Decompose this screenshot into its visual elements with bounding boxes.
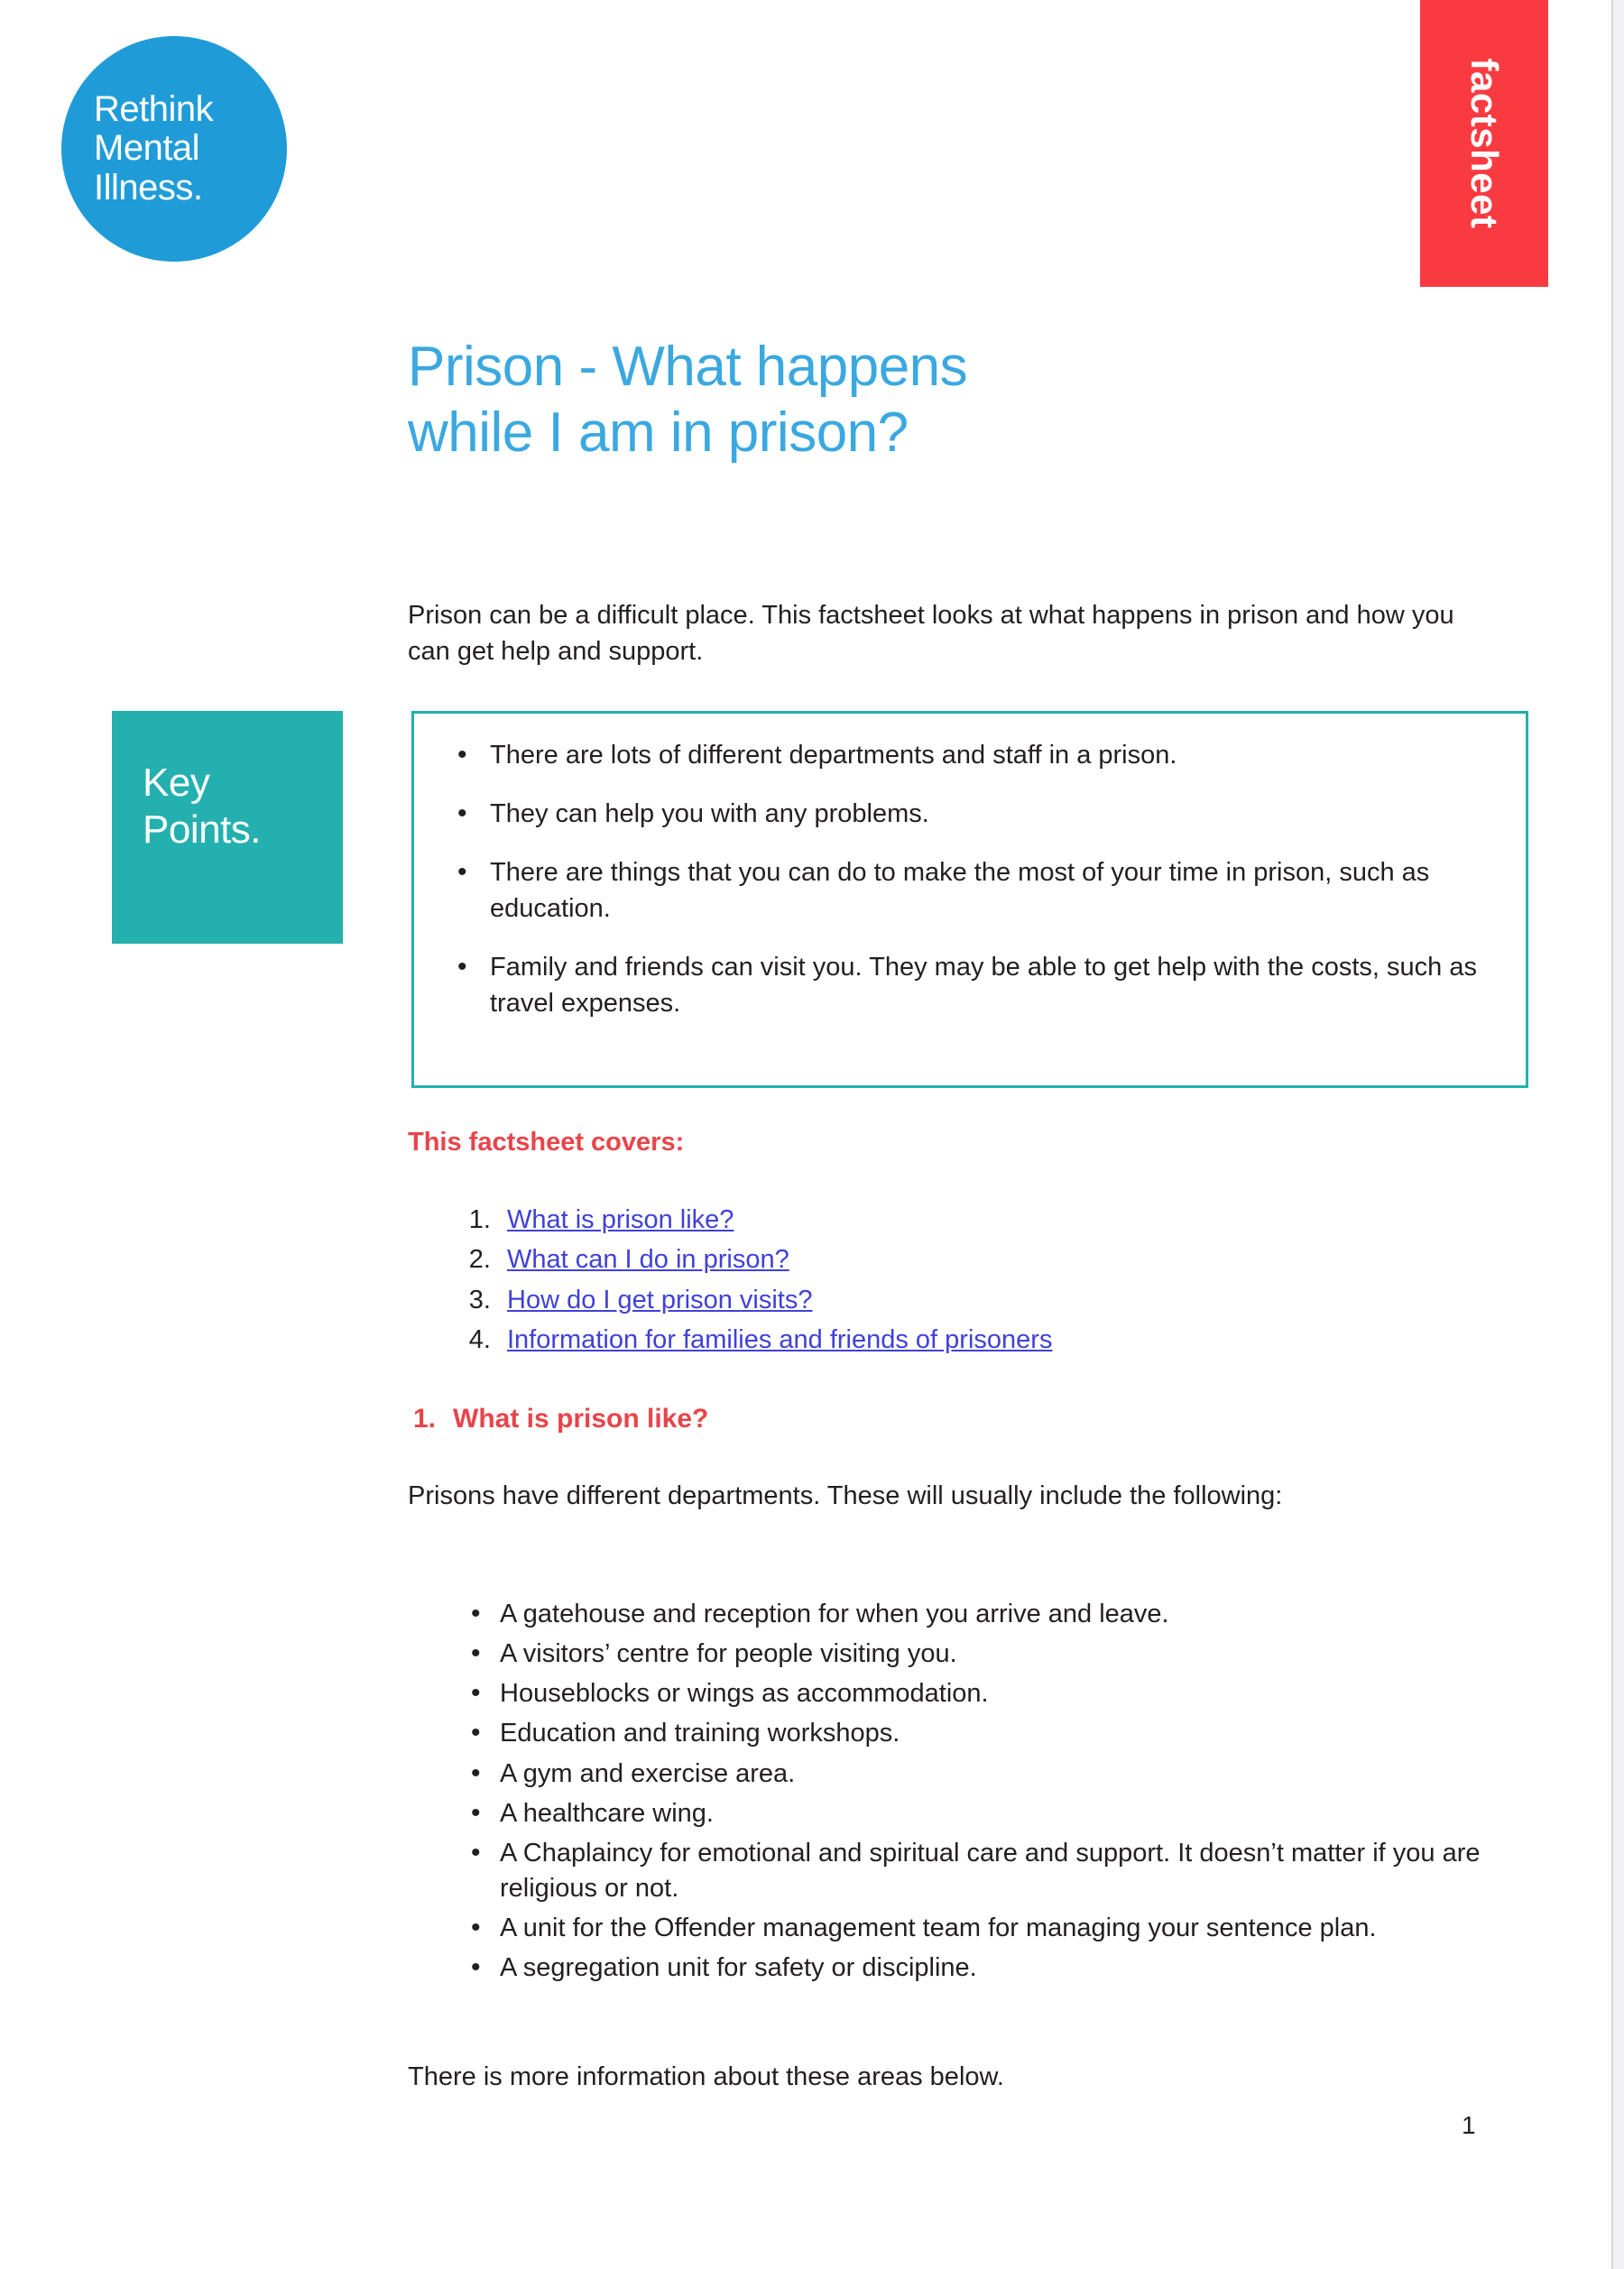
key-points-list: There are lots of different departments … (447, 737, 1490, 1021)
viewer-right-edge (1611, 0, 1624, 2269)
factsheet-covers-list: What is prison like? What can I do in pr… (442, 1200, 1490, 1360)
list-item: What can I do in prison? (498, 1240, 1490, 1279)
section-1-number: 1. (413, 1404, 453, 1434)
intro-paragraph: Prison can be a difficult place. This fa… (408, 597, 1454, 669)
list-item: Education and training workshops. (494, 1716, 1577, 1751)
list-item: A visitors’ centre for people visiting y… (494, 1637, 1577, 1672)
list-item: They can help you with any problems. (483, 796, 1490, 832)
section-1-paragraph: Prisons have different departments. Thes… (408, 1478, 1400, 1514)
list-item: A gym and exercise area. (494, 1757, 1577, 1792)
page-title: Prison - What happens while I am in pris… (408, 334, 1310, 466)
key-points-badge-line-1: Key (143, 760, 343, 807)
page-title-line-2: while I am in prison? (408, 400, 1310, 466)
list-item: A Chaplaincy for emotional and spiritual… (494, 1836, 1577, 1906)
key-points-badge-line-2: Points. (143, 807, 343, 853)
toc-link-3[interactable]: How do I get prison visits? (507, 1286, 812, 1314)
logo-line-2: Mental (94, 129, 199, 168)
factsheet-tab: factsheet (1420, 0, 1548, 287)
section-1-closing-paragraph: There is more information about these ar… (408, 2059, 1400, 2095)
list-item: A healthcare wing. (494, 1796, 1577, 1831)
list-item: There are things that you can do to make… (483, 854, 1490, 927)
factsheet-tab-label: factsheet (1463, 59, 1506, 229)
toc-link-4[interactable]: Information for families and friends of … (507, 1325, 1052, 1354)
list-item: A segregation unit for safety or discipl… (494, 1951, 1577, 1986)
logo-line-1: Rethink (94, 90, 213, 129)
factsheet-page: Rethink Mental Illness. factsheet Prison… (0, 0, 1624, 2269)
section-1-title: What is prison like? (453, 1404, 708, 1434)
toc-link-1[interactable]: What is prison like? (507, 1205, 734, 1234)
list-item: There are lots of different departments … (483, 737, 1490, 773)
logo-line-3: Illness. (94, 169, 203, 208)
list-item: What is prison like? (498, 1200, 1490, 1240)
key-points-box: There are lots of different departments … (411, 711, 1528, 1088)
list-item: Information for families and friends of … (498, 1320, 1490, 1360)
rethink-mental-illness-logo: Rethink Mental Illness. (61, 36, 287, 262)
list-item: A gatehouse and reception for when you a… (494, 1597, 1577, 1632)
factsheet-covers-heading: This factsheet covers: (408, 1128, 684, 1158)
prison-departments-list: A gatehouse and reception for when you a… (451, 1597, 1577, 1990)
list-item: Houseblocks or wings as accommodation. (494, 1676, 1577, 1711)
list-item: How do I get prison visits? (498, 1280, 1490, 1320)
list-item: Family and friends can visit you. They m… (483, 949, 1490, 1021)
list-item: A unit for the Offender management team … (494, 1911, 1577, 1946)
section-1-heading: 1.What is prison like? (413, 1404, 708, 1434)
key-points-badge: Key Points. (112, 711, 343, 944)
toc-link-2[interactable]: What can I do in prison? (507, 1245, 789, 1274)
page-title-line-1: Prison - What happens (408, 334, 1310, 400)
page-number: 1 (1462, 2111, 1476, 2140)
